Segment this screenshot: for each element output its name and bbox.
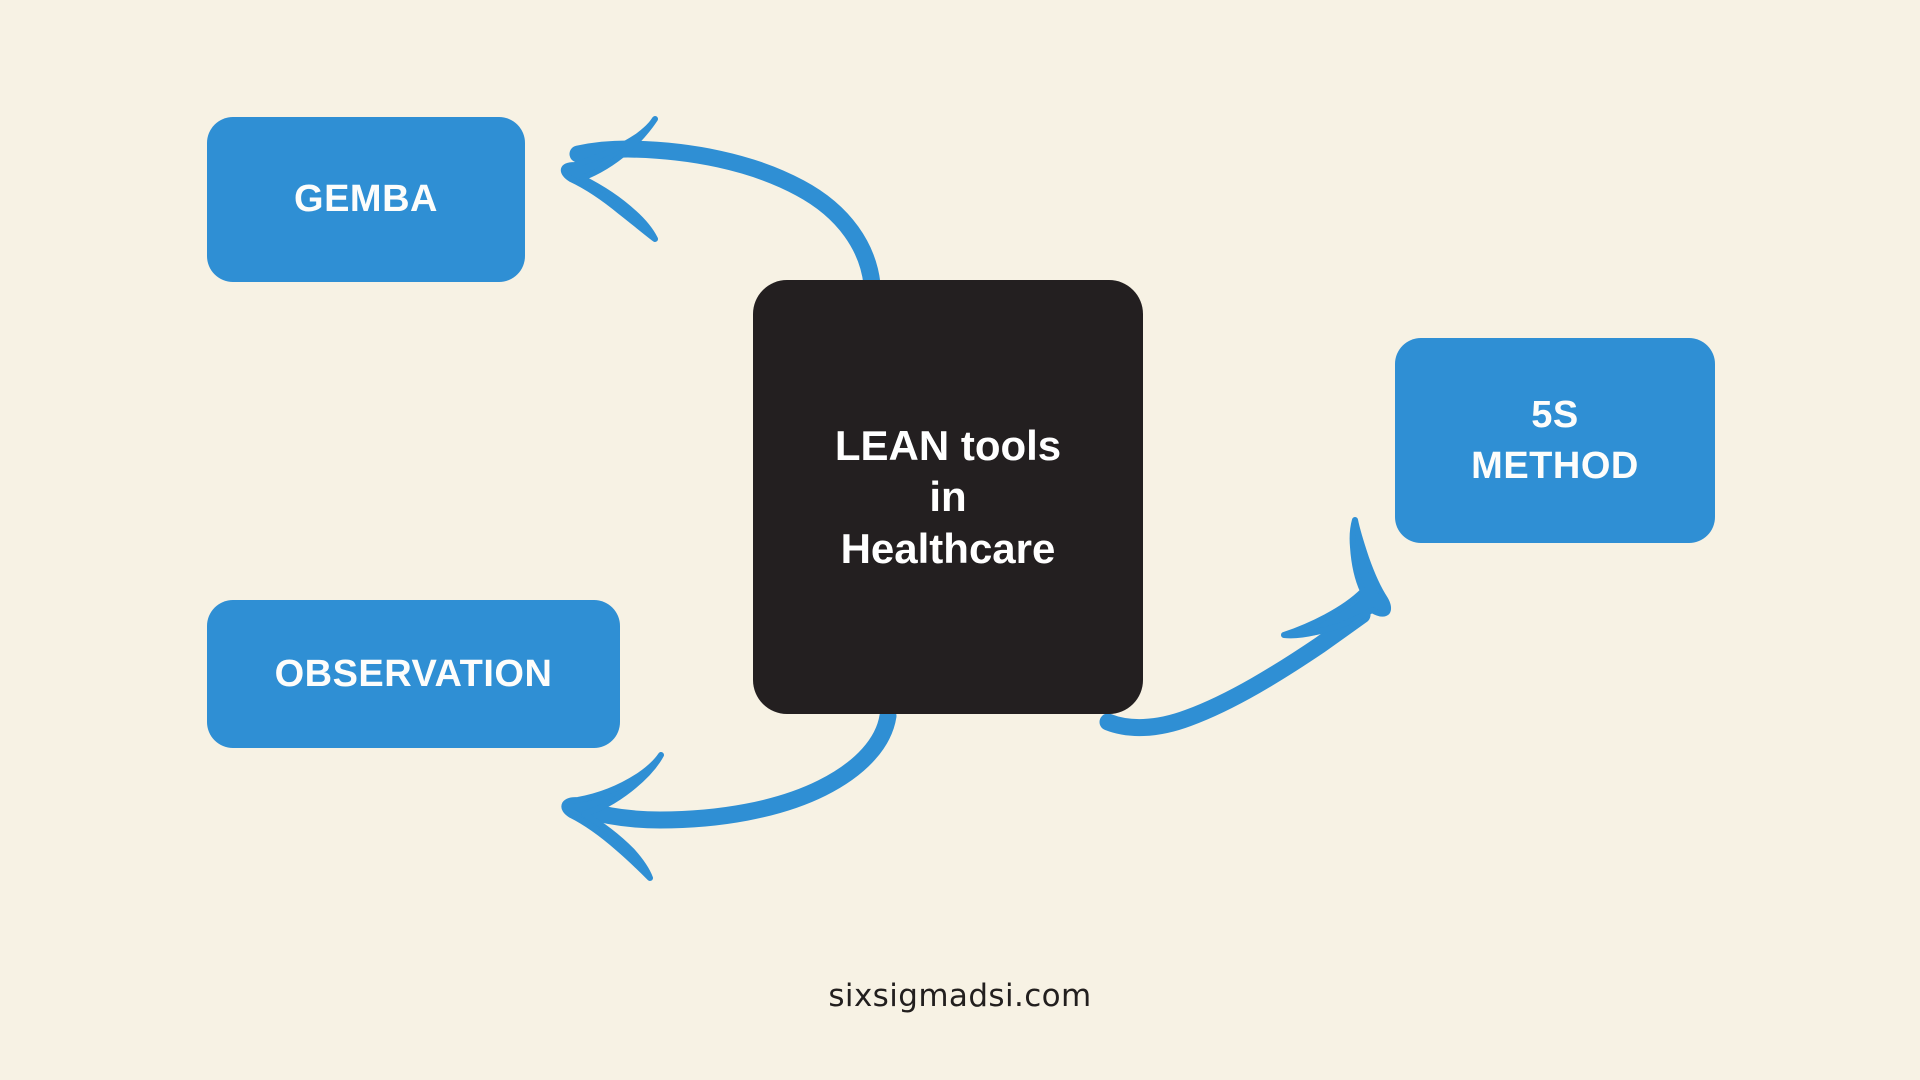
arrow-center-to-five-s [1108,520,1388,728]
arrow-center-to-observation [564,716,888,878]
diagram-canvas: GEMBA OBSERVATION 5S METHOD LEAN tools i… [0,0,1920,1080]
node-gemba[interactable]: GEMBA [207,117,525,282]
node-gemba-label: GEMBA [294,178,438,221]
arrow-center-to-gemba [564,119,872,284]
node-observation-label: OBSERVATION [275,653,553,696]
node-observation[interactable]: OBSERVATION [207,600,620,748]
node-center-label: LEAN tools in Healthcare [827,420,1069,574]
node-five-s-method-label: 5S METHOD [1471,390,1639,490]
footer-caption: sixsigmadsi.com [0,978,1920,1014]
node-center-lean-tools[interactable]: LEAN tools in Healthcare [753,280,1143,714]
node-five-s-method[interactable]: 5S METHOD [1395,338,1715,543]
